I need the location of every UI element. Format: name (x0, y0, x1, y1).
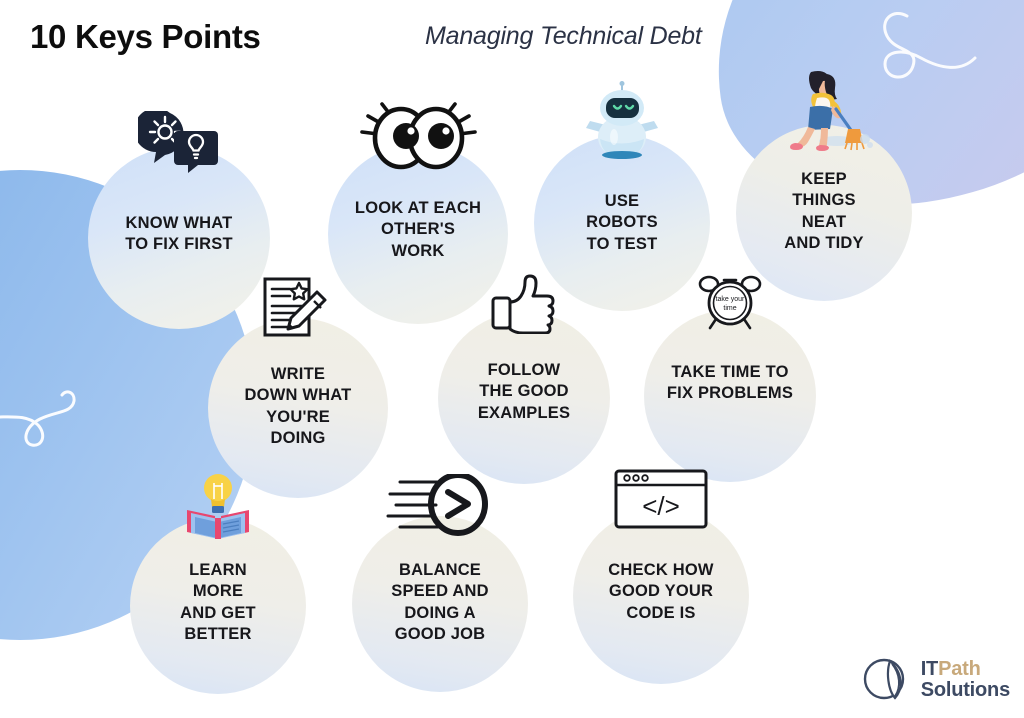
point-card-9[interactable]: BALANCE SPEED AND DOING A GOOD JOB (352, 516, 528, 692)
company-logo[interactable]: ITPath Solutions (862, 656, 1010, 704)
thumbs-up-icon (476, 276, 572, 334)
alarm-clock-text-line1: take your (716, 296, 745, 303)
logo-line-2: Solutions (921, 680, 1010, 701)
point-label-2: LOOK AT EACH OTHER'S WORK (328, 198, 508, 262)
document-pencil-icon (248, 278, 348, 342)
decorative-squiggle-left (0, 385, 99, 455)
googly-eyes-icon (354, 98, 482, 170)
point-card-6[interactable]: FOLLOW THE GOOD EXAMPLES (438, 312, 610, 484)
alarm-clock-icon: take your time (686, 276, 774, 332)
logo-text: ITPath Solutions (921, 659, 1010, 701)
point-card-8[interactable]: LEARN MORE AND GET BETTER (130, 518, 306, 694)
point-card-7[interactable]: take your time TAKE TIME TO FIX PROBLEMS (644, 310, 816, 482)
alarm-clock-text-line2: time (723, 305, 736, 312)
logo-path: Path (938, 658, 981, 680)
point-label-6: FOLLOW THE GOOD EXAMPLES (438, 360, 610, 424)
point-card-10[interactable]: </> CHECK HOW GOOD YOUR CODE IS (573, 508, 749, 684)
lightbulb-book-icon (172, 474, 264, 540)
logo-it: IT (921, 658, 938, 680)
leaf-circle-logo-mark (862, 656, 914, 704)
point-label-10: CHECK HOW GOOD YOUR CODE IS (573, 560, 749, 624)
code-window-icon: </> (606, 468, 716, 530)
speed-arrow-icon (378, 474, 502, 536)
robot-icon (572, 83, 672, 159)
point-label-3: USE ROBOTS TO TEST (534, 191, 710, 255)
speech-bubbles-idea-icon (123, 111, 235, 173)
logo-line-1: ITPath (921, 659, 1010, 680)
point-label-8: LEARN MORE AND GET BETTER (130, 560, 306, 646)
point-label-9: BALANCE SPEED AND DOING A GOOD JOB (352, 560, 528, 646)
point-label-5: WRITE DOWN WHAT YOU'RE DOING (208, 364, 388, 450)
point-label-7: TAKE TIME TO FIX PROBLEMS (644, 362, 816, 405)
point-label-4: KEEP THINGS NEAT AND TIDY (736, 169, 912, 255)
point-label-1: KNOW WHAT TO FIX FIRST (88, 213, 270, 256)
page-title: 10 Keys Points (30, 18, 261, 56)
infographic-canvas: 10 Keys Points Managing Technical Debt (0, 0, 1024, 718)
code-window-glyph: </> (642, 491, 680, 521)
person-sweeping-icon (770, 75, 880, 151)
point-card-1[interactable]: KNOW WHAT TO FIX FIRST (88, 147, 270, 329)
page-subtitle: Managing Technical Debt (425, 20, 735, 52)
